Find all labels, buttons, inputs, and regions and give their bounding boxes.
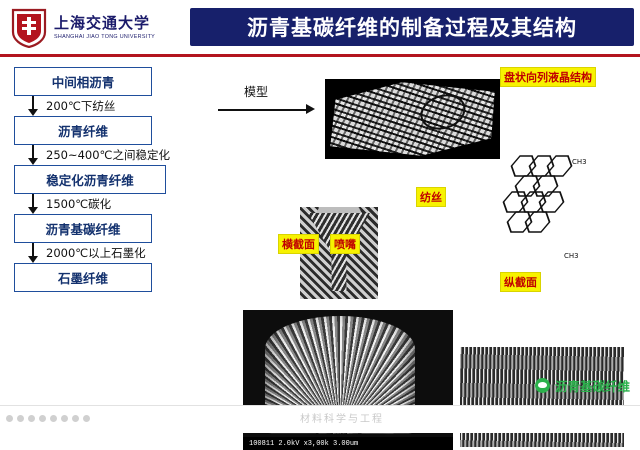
flow-box-1: 沥青纤维 (14, 116, 152, 145)
model-arrow: 模型 (218, 87, 326, 115)
down-arrow-icon (28, 145, 38, 165)
slide-title-bar: 沥青基碳纤维的制备过程及其结构 (190, 8, 634, 46)
callout-discotic: 盘状向列液晶结构 (500, 67, 596, 87)
down-arrow-icon (28, 243, 38, 263)
wechat-icon (535, 378, 550, 393)
ch3-label: CH3 (564, 252, 579, 260)
flow-box-3: 沥青基碳纤维 (14, 214, 152, 243)
flow-step-label-1: 250~400℃之间稳定化 (46, 147, 170, 163)
flow-step-2: 1500℃碳化 (14, 194, 214, 214)
graphene-hexagon-layers-image: CH3 CH3 (490, 152, 610, 270)
university-name-en: SHANGHAI JIAO TONG UNIVERSITY (54, 35, 155, 41)
callout-nozzle: 喷嘴 (330, 234, 360, 254)
flow-box-4: 石墨纤维 (14, 263, 152, 292)
model-arrow-label: 模型 (244, 83, 268, 100)
footer-dots (6, 415, 90, 422)
callout-cross-section: 横截面 (278, 234, 319, 254)
watermark: 沥青基碳纤维 (535, 376, 630, 395)
university-logo: 上海交通大学 SHANGHAI JIAO TONG UNIVERSITY (10, 6, 190, 50)
flow-step-3: 2000℃以上石墨化 (14, 243, 214, 263)
callout-spinning: 纺丝 (416, 187, 446, 207)
flow-box-2: 稳定化沥青纤维 (14, 165, 166, 194)
mesophase-pitch-model-image (325, 79, 500, 159)
callout-longitudinal: 纵截面 (500, 272, 541, 292)
university-crest-icon (10, 8, 48, 48)
flow-box-0: 中间相沥青 (14, 67, 152, 96)
flow-step-1: 250~400℃之间稳定化 (14, 145, 214, 165)
university-name-cn: 上海交通大学 (54, 16, 155, 32)
page-title: 沥青基碳纤维的制备过程及其结构 (247, 12, 577, 42)
flow-step-label-3: 2000℃以上石墨化 (46, 245, 146, 261)
footer-brand: 材料科学与工程 (300, 410, 384, 425)
ch3-label: CH3 (572, 158, 587, 166)
university-logo-text: 上海交通大学 SHANGHAI JIAO TONG UNIVERSITY (54, 16, 155, 40)
slide-root: 上海交通大学 SHANGHAI JIAO TONG UNIVERSITY 沥青基… (0, 0, 640, 432)
slide-body: 中间相沥青 200℃下纺丝 沥青纤维 250~400℃之间稳定化 稳定化沥青纤维… (0, 57, 640, 405)
process-flow-chart: 中间相沥青 200℃下纺丝 沥青纤维 250~400℃之间稳定化 稳定化沥青纤维… (14, 67, 214, 292)
flow-step-label-2: 1500℃碳化 (46, 196, 111, 212)
flow-step-0: 200℃下纺丝 (14, 96, 214, 116)
down-arrow-icon (28, 96, 38, 116)
watermark-text: 沥青基碳纤维 (555, 376, 630, 395)
flow-step-label-0: 200℃下纺丝 (46, 98, 115, 114)
down-arrow-icon (28, 194, 38, 214)
sem-status-bar: 100811 2.0kV x3,00k 3.00um (243, 437, 453, 450)
slide-header: 上海交通大学 SHANGHAI JIAO TONG UNIVERSITY 沥青基… (0, 0, 640, 56)
